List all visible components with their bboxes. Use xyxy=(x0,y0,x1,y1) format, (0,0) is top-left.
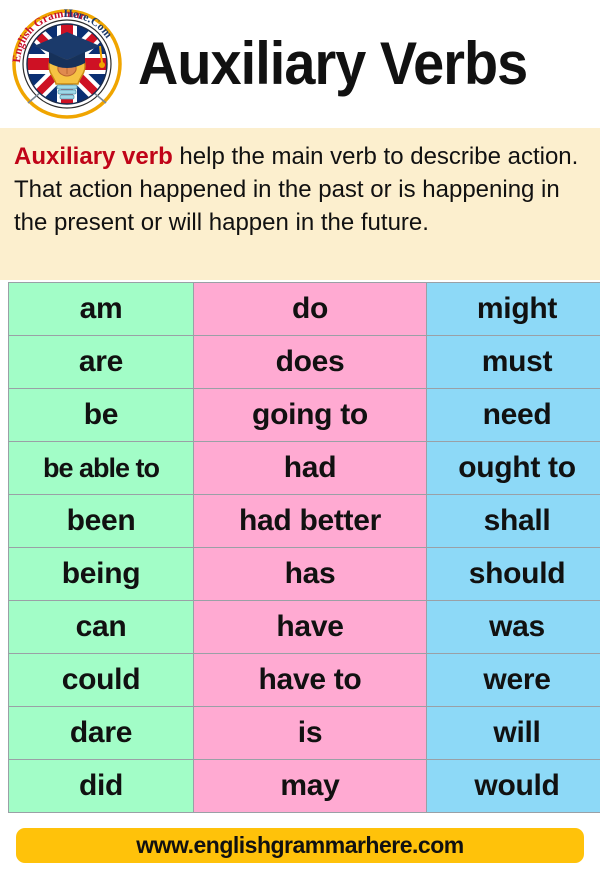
verb-cell-pink: going to xyxy=(194,389,427,442)
website-footer-bar[interactable]: www.englishgrammarhere.com xyxy=(16,828,584,863)
verb-cell-green: can xyxy=(9,601,194,654)
table-row: dare is will xyxy=(9,707,600,760)
verb-cell-green: be able to xyxy=(9,442,194,495)
table-row: could have to were xyxy=(9,654,600,707)
description-text: Auxiliary verb help the main verb to des… xyxy=(14,140,586,239)
table-row: be able to had ought to xyxy=(9,442,600,495)
verb-cell-green: am xyxy=(9,283,194,336)
verb-cell-green: could xyxy=(9,654,194,707)
verb-cell-blue: should xyxy=(427,548,600,601)
verb-cell-blue: was xyxy=(427,601,600,654)
verb-cell-blue: ought to xyxy=(427,442,600,495)
verb-cell-green: been xyxy=(9,495,194,548)
table-row: are does must xyxy=(9,336,600,389)
verb-cell-green: be xyxy=(9,389,194,442)
verb-cell-blue: were xyxy=(427,654,600,707)
verb-cell-green: being xyxy=(9,548,194,601)
verb-cell-blue: will xyxy=(427,707,600,760)
website-url: www.englishgrammarhere.com xyxy=(136,832,463,859)
table-row: be going to need xyxy=(9,389,600,442)
table-row: am do might xyxy=(9,283,600,336)
description-lead: Auxiliary verb xyxy=(14,143,173,170)
verb-cell-blue: need xyxy=(427,389,600,442)
page-header: English Grammar Here.Com Auxiliary Verbs xyxy=(0,0,600,128)
table-body: am do might are does must be going to ne… xyxy=(9,283,600,813)
description-panel: Auxiliary verb help the main verb to des… xyxy=(0,128,600,280)
verb-cell-pink: had better xyxy=(194,495,427,548)
auxiliary-verbs-table: am do might are does must be going to ne… xyxy=(8,282,600,813)
verb-cell-pink: has xyxy=(194,548,427,601)
table-row: been had better shall xyxy=(9,495,600,548)
verb-cell-green: dare xyxy=(9,707,194,760)
table-row: can have was xyxy=(9,601,600,654)
verb-cell-green: did xyxy=(9,760,194,813)
english-grammar-here-logo: English Grammar Here.Com xyxy=(6,3,128,125)
table-row: being has should xyxy=(9,548,600,601)
verb-cell-pink: have xyxy=(194,601,427,654)
verb-cell-blue: must xyxy=(427,336,600,389)
page-title: Auxiliary Verbs xyxy=(138,34,527,94)
verb-cell-pink: is xyxy=(194,707,427,760)
verb-cell-green: are xyxy=(9,336,194,389)
verb-cell-pink: had xyxy=(194,442,427,495)
verb-cell-blue: shall xyxy=(427,495,600,548)
verb-cell-blue: would xyxy=(427,760,600,813)
verb-cell-pink: does xyxy=(194,336,427,389)
verb-cell-pink: have to xyxy=(194,654,427,707)
verb-cell-pink: may xyxy=(194,760,427,813)
verb-cell-pink: do xyxy=(194,283,427,336)
verb-cell-blue: might xyxy=(427,283,600,336)
table-row: did may would xyxy=(9,760,600,813)
